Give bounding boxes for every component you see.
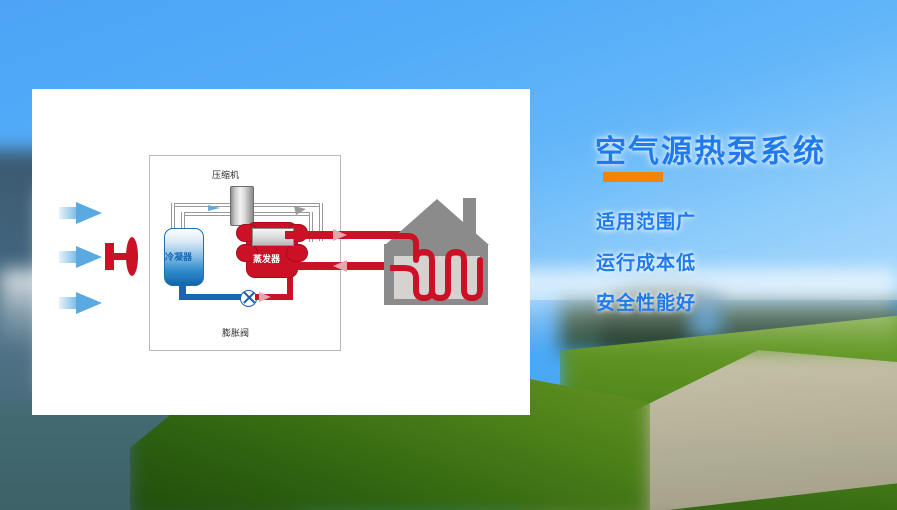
flow-arrow-compressor-out	[294, 206, 308, 216]
bullet-item-2: 安全性能好	[596, 288, 696, 315]
bullet-item-1: 运行成本低	[596, 248, 696, 275]
fan-blade	[126, 237, 138, 276]
evaporator-coil-4	[286, 244, 308, 262]
evaporator-label: 蒸发器	[253, 252, 280, 265]
expansion-valve-label: 膨胀阀	[222, 326, 249, 339]
compressor-label: 压缩机	[212, 168, 239, 181]
radiant-floor-coil	[390, 228, 485, 303]
pipe-valve-in	[183, 294, 245, 300]
flow-arrow-valve-out	[258, 292, 274, 302]
compressor-body	[230, 186, 254, 226]
refrigeration-schematic: 压缩机 冷凝器 膨胀阀	[149, 155, 341, 351]
page-title: 空气源热泵系统	[595, 126, 826, 171]
title-underline-rule	[603, 172, 663, 182]
bullet-item-0: 适用范围广	[596, 207, 696, 234]
flow-arrow-compressor-in	[208, 204, 222, 212]
slide-canvas: 压缩机 冷凝器 膨胀阀	[0, 0, 897, 510]
condenser-label: 冷凝器	[165, 250, 192, 263]
flow-arrow-return	[330, 260, 350, 272]
flow-arrow-supply	[330, 229, 350, 241]
